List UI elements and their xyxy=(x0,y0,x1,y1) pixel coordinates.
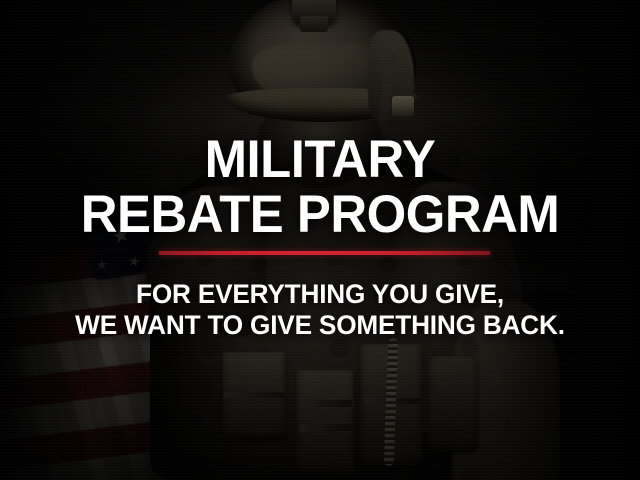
headline-line-2: REBATE PROGRAM xyxy=(13,188,627,241)
headline-line-1: MILITARY xyxy=(13,133,627,186)
subhead-line-2: WE WANT TO GIVE SOMETHING BACK. xyxy=(10,312,631,339)
banner-content: MILITARY REBATE PROGRAM FOR EVERYTHING Y… xyxy=(0,0,640,480)
red-divider-rule xyxy=(159,251,490,255)
subhead-line-1: FOR EVERYTHING YOU GIVE, xyxy=(10,281,631,308)
military-rebate-program-banner: ★ ★ ★ ★ ★ MILITARY REBATE PROGRAM FOR EV… xyxy=(0,0,640,480)
